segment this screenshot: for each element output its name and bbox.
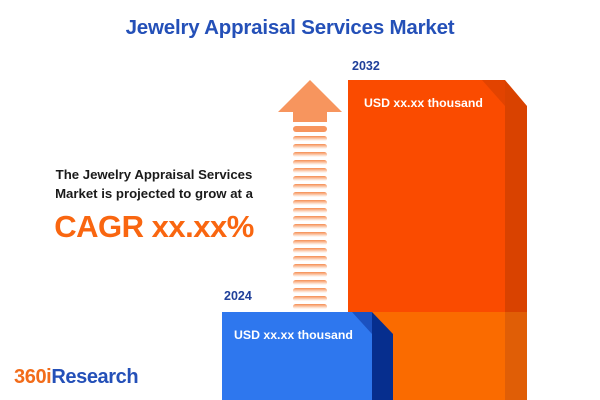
up-arrow-icon [277,78,343,310]
statement-block: The Jewelry Appraisal Services Market is… [18,165,290,245]
statement-line-2: Market is projected to grow at a [18,184,290,203]
brand-logo: 360iResearch [14,366,138,389]
logo-text-blue: Research [51,366,138,388]
bar-2024-year-label: 2024 [224,289,252,303]
infographic-canvas: Jewelry Appraisal Services Market The Je… [0,0,600,400]
cagr-value: CAGR xx.xx% [18,209,290,245]
bar-2032-year-label: 2032 [352,59,380,73]
bar-2024-value-label: USD xx.xx thousand [234,328,353,342]
bar-2024-front-face [222,312,372,400]
bar-2032-value-label: USD xx.xx thousand [364,96,483,110]
logo-text-orange: 360i [14,366,51,388]
page-title: Jewelry Appraisal Services Market [0,16,580,40]
statement-line-1: The Jewelry Appraisal Services [18,165,290,184]
bar-2032-side-face-lower [505,312,527,400]
